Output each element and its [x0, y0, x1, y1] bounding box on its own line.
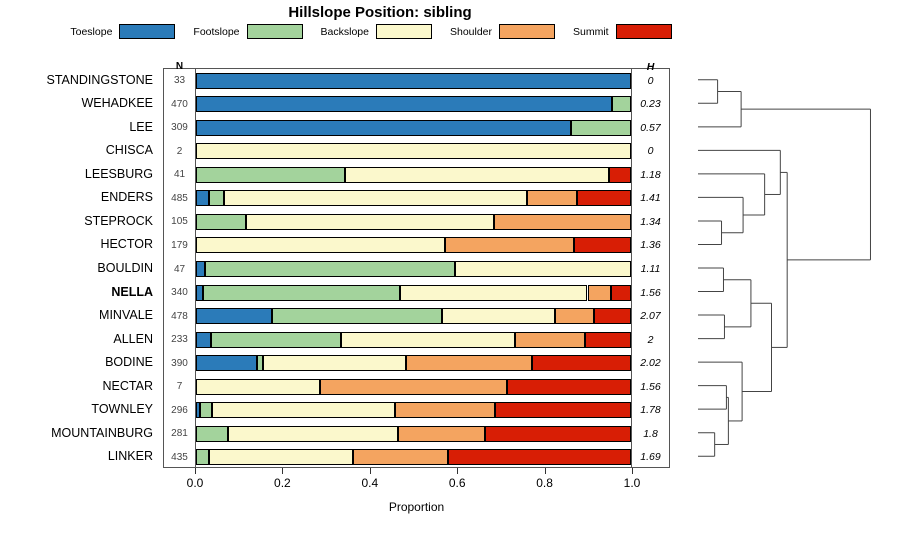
- plot-panel: 33N0H4700.233090.5720411.184851.411051.3…: [163, 68, 670, 468]
- table-row: 4700.23: [164, 93, 669, 115]
- bar-segment-backslope: [246, 214, 494, 230]
- table-row: 4851.41: [164, 187, 669, 209]
- h-value: 0.23: [632, 93, 669, 115]
- stacked-bar: [196, 214, 631, 230]
- category-label-bouldin: BOULDIN: [97, 257, 153, 279]
- bar-segment-footslope: [203, 285, 401, 301]
- category-label-standingstone: STANDINGSTONE: [47, 69, 154, 91]
- h-value: 1.36: [632, 234, 669, 256]
- bar-segment-backslope: [196, 379, 320, 395]
- bar-area: [196, 117, 631, 139]
- axis-tick: [195, 468, 196, 474]
- table-row: 411.18: [164, 164, 669, 186]
- bar-area: [196, 234, 631, 256]
- bar-segment-footslope: [211, 332, 342, 348]
- bar-segment-backslope: [341, 332, 515, 348]
- axis-tick: [370, 468, 371, 474]
- bar-segment-toeslope: [196, 190, 209, 206]
- n-value: 470: [164, 93, 195, 115]
- legend-label: Summit: [573, 26, 609, 38]
- category-label-linker: LINKER: [108, 445, 153, 467]
- stacked-bar: [196, 120, 631, 136]
- bar-segment-summit: [611, 285, 631, 301]
- axis-tick: [457, 468, 458, 474]
- bar-segment-shoulder: [353, 449, 449, 465]
- h-value: 0: [632, 140, 669, 162]
- n-value: 478: [164, 305, 195, 327]
- stacked-bar: [196, 237, 631, 253]
- bar-area: [196, 376, 631, 398]
- h-value: 1.18: [632, 164, 669, 186]
- x-axis: 0.00.20.40.60.81.0: [163, 468, 670, 469]
- bar-segment-footslope: [571, 120, 631, 136]
- n-value: 7: [164, 376, 195, 398]
- category-label-steprock: STEPROCK: [84, 210, 153, 232]
- n-value: 309: [164, 117, 195, 139]
- legend-swatch-icon: [376, 24, 432, 39]
- legend-item-summit: Summit: [573, 24, 672, 39]
- n-value: 105: [164, 211, 195, 233]
- legend-item-toeslope: Toeslope: [70, 24, 175, 39]
- bar-area: [196, 329, 631, 351]
- stacked-bar: [196, 449, 631, 465]
- table-row: 2332: [164, 329, 669, 351]
- stacked-bar: [196, 402, 631, 418]
- h-value: 2.07: [632, 305, 669, 327]
- bar-segment-shoulder: [406, 355, 532, 371]
- category-label-axis: STANDINGSTONEWEHADKEELEECHISCALEESBURGEN…: [0, 68, 159, 468]
- axis-tick-label: 0.2: [274, 476, 291, 490]
- bar-area: [196, 258, 631, 280]
- axis-tick: [282, 468, 283, 474]
- stacked-bar: [196, 426, 631, 442]
- legend-item-shoulder: Shoulder: [450, 24, 555, 39]
- n-value: 390: [164, 352, 195, 374]
- category-label-hector: HECTOR: [100, 233, 153, 255]
- n-value: 41: [164, 164, 195, 186]
- page-title: Hillslope Position: sibling: [0, 4, 760, 21]
- table-row: 1791.36: [164, 234, 669, 256]
- bar-segment-shoulder: [320, 379, 507, 395]
- n-value: 233: [164, 329, 195, 351]
- bar-segment-summit: [532, 355, 631, 371]
- category-label-lee: LEE: [129, 116, 153, 138]
- bar-segment-summit: [594, 308, 631, 324]
- bar-segment-backslope: [442, 308, 555, 324]
- bar-area: [196, 70, 631, 92]
- bar-segment-toeslope: [196, 332, 211, 348]
- table-row: 471.11: [164, 258, 669, 280]
- axis-tick-label: 0.4: [361, 476, 378, 490]
- h-value: 1.11: [632, 258, 669, 280]
- bar-segment-shoulder: [515, 332, 585, 348]
- table-row: 4351.69: [164, 446, 669, 468]
- bar-area: [196, 164, 631, 186]
- h-value: 2: [632, 329, 669, 351]
- bar-area: [196, 93, 631, 115]
- stacked-bar: [196, 285, 631, 301]
- n-value: 2: [164, 140, 195, 162]
- legend-swatch-icon: [499, 24, 555, 39]
- axis-tick-label: 0.0: [187, 476, 204, 490]
- bar-segment-backslope: [455, 261, 631, 277]
- bar-segment-toeslope: [196, 96, 612, 112]
- bar-segment-summit: [585, 332, 631, 348]
- bar-segment-footslope: [196, 167, 345, 183]
- h-value: 1.56: [632, 376, 669, 398]
- n-value: 47: [164, 258, 195, 280]
- bar-area: [196, 187, 631, 209]
- bar-segment-toeslope: [196, 308, 272, 324]
- h-value: 0.57: [632, 117, 669, 139]
- bar-area: [196, 352, 631, 374]
- h-value: 1.69: [632, 446, 669, 468]
- bar-segment-backslope: [263, 355, 407, 371]
- legend-item-backslope: Backslope: [321, 24, 432, 39]
- category-label-townley: TOWNLEY: [91, 398, 153, 420]
- n-value: 296: [164, 399, 195, 421]
- table-row: 1051.34: [164, 211, 669, 233]
- category-label-nella: NELLA: [111, 281, 153, 303]
- stacked-bar: [196, 332, 631, 348]
- bar-segment-backslope: [196, 143, 631, 159]
- legend-item-footslope: Footslope: [193, 24, 302, 39]
- bar-segment-backslope: [196, 237, 445, 253]
- bar-segment-shoulder: [445, 237, 573, 253]
- h-value: 1.8: [632, 423, 669, 445]
- bar-area: [196, 282, 631, 304]
- bar-segment-footslope: [196, 449, 209, 465]
- stacked-bar-rows: 33N0H4700.233090.5720411.184851.411051.3…: [164, 69, 669, 467]
- bar-area: [196, 399, 631, 421]
- bar-segment-backslope: [224, 190, 526, 206]
- legend-swatch-icon: [247, 24, 303, 39]
- bar-segment-shoulder: [395, 402, 495, 418]
- bar-segment-shoulder: [527, 190, 577, 206]
- stacked-bar: [196, 190, 631, 206]
- n-value: 179: [164, 234, 195, 256]
- table-row: 71.56: [164, 376, 669, 398]
- bar-segment-toeslope: [196, 355, 257, 371]
- legend-swatch-icon: [616, 24, 672, 39]
- hillslope-position-chart: Hillslope Position: sibling ToeslopeFoot…: [0, 0, 900, 540]
- bar-segment-shoulder: [588, 285, 612, 301]
- bar-segment-footslope: [209, 190, 224, 206]
- category-label-enders: ENDERS: [101, 186, 153, 208]
- h-value: 2.02: [632, 352, 669, 374]
- dendrogram: [690, 68, 900, 468]
- bar-segment-backslope: [228, 426, 398, 442]
- table-row: 4782.07: [164, 305, 669, 327]
- bar-segment-toeslope: [196, 120, 571, 136]
- category-label-wehadkee: WEHADKEE: [81, 92, 153, 114]
- n-value: 435: [164, 446, 195, 468]
- h-value: 1.78: [632, 399, 669, 421]
- bar-segment-shoulder: [555, 308, 594, 324]
- legend-label: Toeslope: [70, 26, 112, 38]
- bar-segment-summit: [448, 449, 631, 465]
- dendrogram-svg: [690, 68, 900, 468]
- stacked-bar: [196, 143, 631, 159]
- h-column-header: H: [632, 61, 669, 73]
- stacked-bar: [196, 308, 631, 324]
- bar-segment-footslope: [200, 402, 212, 418]
- axis-tick-label: 1.0: [624, 476, 641, 490]
- bar-area: [196, 211, 631, 233]
- n-column-header: N: [164, 61, 195, 72]
- bar-segment-footslope: [205, 261, 455, 277]
- bar-segment-summit: [609, 167, 631, 183]
- table-row: 3902.02: [164, 352, 669, 374]
- bar-area: [196, 305, 631, 327]
- table-row: 33N0H: [164, 70, 669, 92]
- h-value: 0H: [632, 70, 669, 92]
- bar-segment-shoulder: [398, 426, 485, 442]
- category-label-leesburg: LEESBURG: [85, 163, 153, 185]
- bar-area: [196, 446, 631, 468]
- h-value: 1.41: [632, 187, 669, 209]
- n-value: 340: [164, 282, 195, 304]
- bar-segment-footslope: [612, 96, 631, 112]
- stacked-bar: [196, 96, 631, 112]
- n-value: 33N: [164, 70, 195, 92]
- table-row: 3401.56: [164, 282, 669, 304]
- legend-label: Footslope: [193, 26, 239, 38]
- bar-segment-backslope: [212, 402, 395, 418]
- h-value: 1.34: [632, 211, 669, 233]
- category-label-allen: ALLEN: [113, 328, 153, 350]
- table-row: 2961.78: [164, 399, 669, 421]
- x-axis-label: Proportion: [163, 500, 670, 514]
- bar-segment-shoulder: [494, 214, 631, 230]
- bar-segment-backslope: [345, 167, 609, 183]
- h-value: 1.56: [632, 282, 669, 304]
- bar-segment-summit: [507, 379, 631, 395]
- stacked-bar: [196, 355, 631, 371]
- table-row: 3090.57: [164, 117, 669, 139]
- category-label-bodine: BODINE: [105, 351, 153, 373]
- bar-segment-summit: [485, 426, 631, 442]
- bar-area: [196, 140, 631, 162]
- axis-tick: [632, 468, 633, 474]
- bar-segment-toeslope: [196, 73, 631, 89]
- bar-segment-summit: [495, 402, 631, 418]
- category-label-chisca: CHISCA: [106, 139, 153, 161]
- axis-tick-label: 0.6: [449, 476, 466, 490]
- category-label-nectar: NECTAR: [103, 375, 153, 397]
- bar-segment-footslope: [272, 308, 442, 324]
- stacked-bar: [196, 261, 631, 277]
- n-value: 281: [164, 423, 195, 445]
- bar-segment-backslope: [209, 449, 353, 465]
- bar-segment-summit: [577, 190, 631, 206]
- axis-tick: [545, 468, 546, 474]
- legend: ToeslopeFootslopeBackslopeShoulderSummit: [0, 24, 760, 39]
- table-row: 2811.8: [164, 423, 669, 445]
- bar-segment-summit: [574, 237, 631, 253]
- axis-tick-label: 0.8: [536, 476, 553, 490]
- legend-label: Shoulder: [450, 26, 492, 38]
- table-row: 20: [164, 140, 669, 162]
- legend-label: Backslope: [321, 26, 369, 38]
- stacked-bar: [196, 167, 631, 183]
- stacked-bar: [196, 379, 631, 395]
- category-label-minvale: MINVALE: [99, 304, 153, 326]
- bar-area: [196, 423, 631, 445]
- stacked-bar: [196, 73, 631, 89]
- category-label-mountainburg: MOUNTAINBURG: [51, 422, 153, 444]
- legend-swatch-icon: [119, 24, 175, 39]
- bar-segment-footslope: [196, 426, 228, 442]
- n-value: 485: [164, 187, 195, 209]
- bar-segment-toeslope: [196, 261, 205, 277]
- bar-segment-footslope: [196, 214, 246, 230]
- bar-segment-backslope: [400, 285, 587, 301]
